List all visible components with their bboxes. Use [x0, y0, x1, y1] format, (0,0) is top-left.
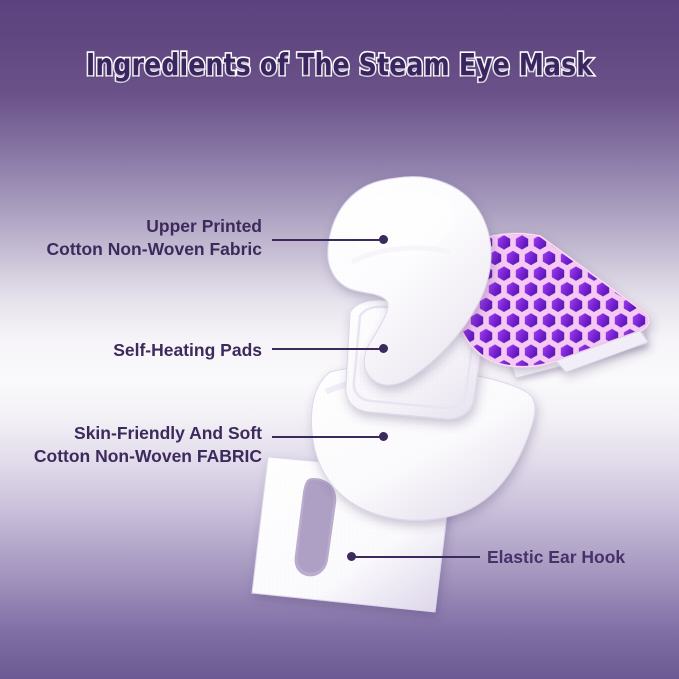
callout-label-self-heating-pads: Self-Heating Pads [0, 339, 262, 362]
callout-line-2: Cotton Non-Woven FABRIC [0, 445, 262, 468]
leader-line-skin-friendly-cotton [272, 436, 385, 438]
callout-label-elastic-ear-hook: Elastic Ear Hook [487, 546, 677, 569]
leader-dot-skin-friendly-cotton [379, 432, 388, 441]
leader-dot-elastic-ear-hook [347, 552, 356, 561]
callout-label-upper-printed-cotton: Upper Printed Cotton Non-Woven Fabric [0, 215, 262, 261]
leader-dot-self-heating-pads [379, 344, 388, 353]
callout-line-2: Cotton Non-Woven Fabric [0, 238, 262, 261]
leader-line-elastic-ear-hook [355, 556, 480, 558]
infographic-canvas: Ingredients of The Steam Eye Mask [0, 0, 679, 679]
callout-line-1: Skin-Friendly And Soft [0, 422, 262, 445]
leader-line-upper-printed-cotton [272, 239, 385, 241]
callout-line-1: Elastic Ear Hook [487, 546, 677, 569]
callout-label-skin-friendly-cotton: Skin-Friendly And Soft Cotton Non-Woven … [0, 422, 262, 468]
leader-dot-upper-printed-cotton [379, 235, 388, 244]
leader-line-self-heating-pads [272, 348, 385, 350]
callout-line-1: Upper Printed [0, 215, 262, 238]
callout-line-1: Self-Heating Pads [0, 339, 262, 362]
